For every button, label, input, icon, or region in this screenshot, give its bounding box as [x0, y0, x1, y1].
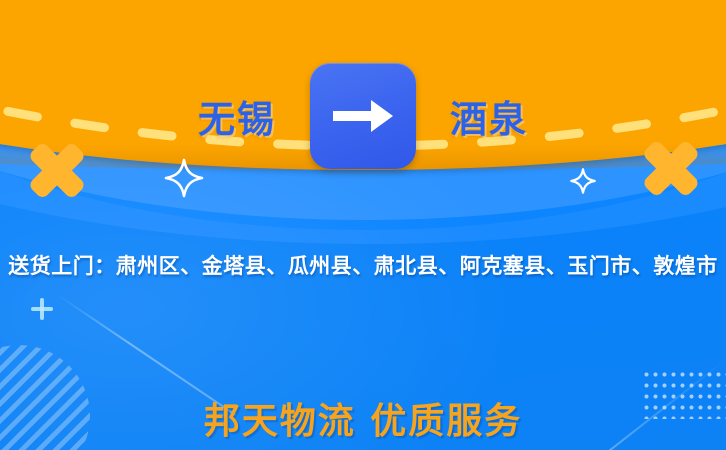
destination-city: 酒泉	[450, 89, 528, 143]
logistics-route-banner: 无锡 酒泉 送货上门：肃州区、金塔县、瓜州县、肃北县、阿克塞县、玉门市、敦煌市 …	[0, 0, 726, 450]
company-slogan: 邦天物流 优质服务	[0, 392, 726, 444]
route-row: 无锡 酒泉	[0, 62, 726, 170]
coverage-areas-text: 送货上门：肃州区、金塔县、瓜州县、肃北县、阿克塞县、玉门市、敦煌市	[0, 250, 726, 280]
origin-city: 无锡	[198, 89, 276, 143]
arrow-right-icon	[310, 63, 416, 169]
sparkle-icon-right	[570, 168, 596, 194]
plus-icon	[31, 298, 53, 320]
